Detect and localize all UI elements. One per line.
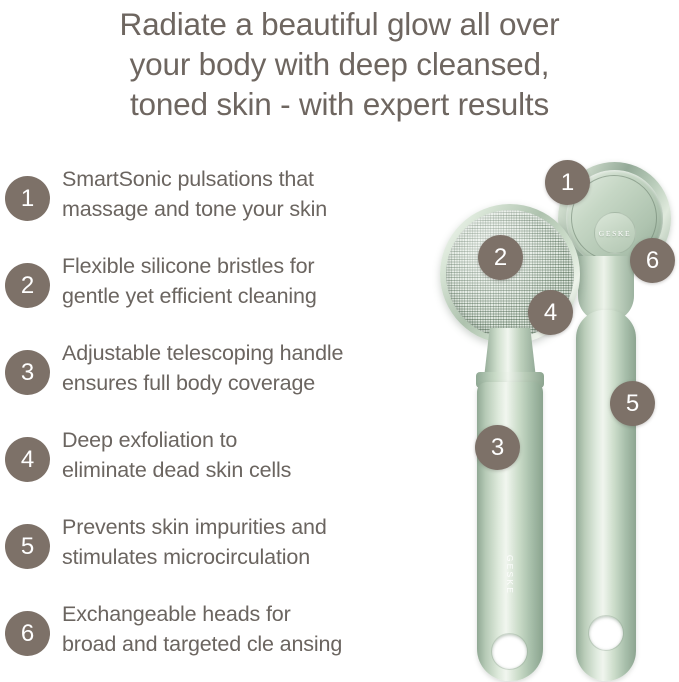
product-callout-1: 1: [545, 160, 590, 205]
feature-6-line-1: Exchangeable heads for: [62, 600, 440, 630]
feature-2-line-2: gentle yet efficient cleaning: [62, 282, 440, 312]
feature-item-1: 1 SmartSonic pulsations that massage and…: [0, 160, 440, 230]
feature-5-line-1: Prevents skin impurities and: [62, 513, 440, 543]
feature-badge-4: 4: [5, 437, 50, 482]
feature-list: 1 SmartSonic pulsations that massage and…: [0, 160, 440, 682]
feature-text-5: Prevents skin impurities and stimulates …: [62, 508, 440, 572]
feature-item-6: 6 Exchangeable heads for broad and targe…: [0, 595, 440, 665]
headline-line-3: toned skin - with expert results: [22, 84, 657, 124]
product-callout-3: 3: [475, 425, 520, 470]
feature-item-2: 2 Flexible silicone bristles for gentle …: [0, 247, 440, 317]
headline-line-1: Radiate a beautiful glow all over: [22, 4, 657, 44]
product-callout-6: 6: [630, 238, 675, 283]
feature-text-4: Deep exfoliation to eliminate dead skin …: [62, 421, 440, 485]
page-headline: Radiate a beautiful glow all over your b…: [0, 4, 679, 124]
feature-text-6: Exchangeable heads for broad and targete…: [62, 595, 440, 659]
feature-4-line-2: eliminate dead skin cells: [62, 456, 440, 486]
feature-item-5: 5 Prevents skin impurities and stimulate…: [0, 508, 440, 578]
headline-line-2: your body with deep cleansed,: [22, 44, 657, 84]
product-image: GESKE GESKE 1 2 4 6 5 3: [430, 150, 679, 681]
feature-1-line-1: SmartSonic pulsations that: [62, 165, 440, 195]
feature-5-line-2: stimulates microcirculation: [62, 543, 440, 573]
feature-badge-3: 3: [5, 350, 50, 395]
front-device-neck: [484, 328, 536, 378]
feature-item-4: 4 Deep exfoliation to eliminate dead ski…: [0, 421, 440, 491]
product-callout-5: 5: [610, 381, 655, 426]
feature-6-line-2: broad and targeted cle ansing: [62, 630, 440, 660]
feature-item-3: 3 Adjustable telescoping handle ensures …: [0, 334, 440, 404]
feature-badge-5: 5: [5, 524, 50, 569]
feature-badge-1: 1: [5, 176, 50, 221]
feature-2-line-1: Flexible silicone bristles for: [62, 252, 440, 282]
feature-text-1: SmartSonic pulsations that massage and t…: [62, 160, 440, 224]
feature-text-2: Flexible silicone bristles for gentle ye…: [62, 247, 440, 311]
feature-badge-2: 2: [5, 263, 50, 308]
feature-3-line-1: Adjustable telescoping handle: [62, 339, 440, 369]
feature-1-line-2: massage and tone your skin: [62, 195, 440, 225]
front-handle-hanging-hole: [492, 634, 527, 669]
feature-3-line-2: ensures full body coverage: [62, 369, 440, 399]
feature-badge-6: 6: [5, 611, 50, 656]
product-callout-2: 2: [478, 235, 523, 280]
product-callout-4: 4: [528, 290, 573, 335]
handle-brand-label: GESKE: [505, 531, 515, 619]
feature-text-3: Adjustable telescoping handle ensures fu…: [62, 334, 440, 398]
feature-4-line-1: Deep exfoliation to: [62, 426, 440, 456]
